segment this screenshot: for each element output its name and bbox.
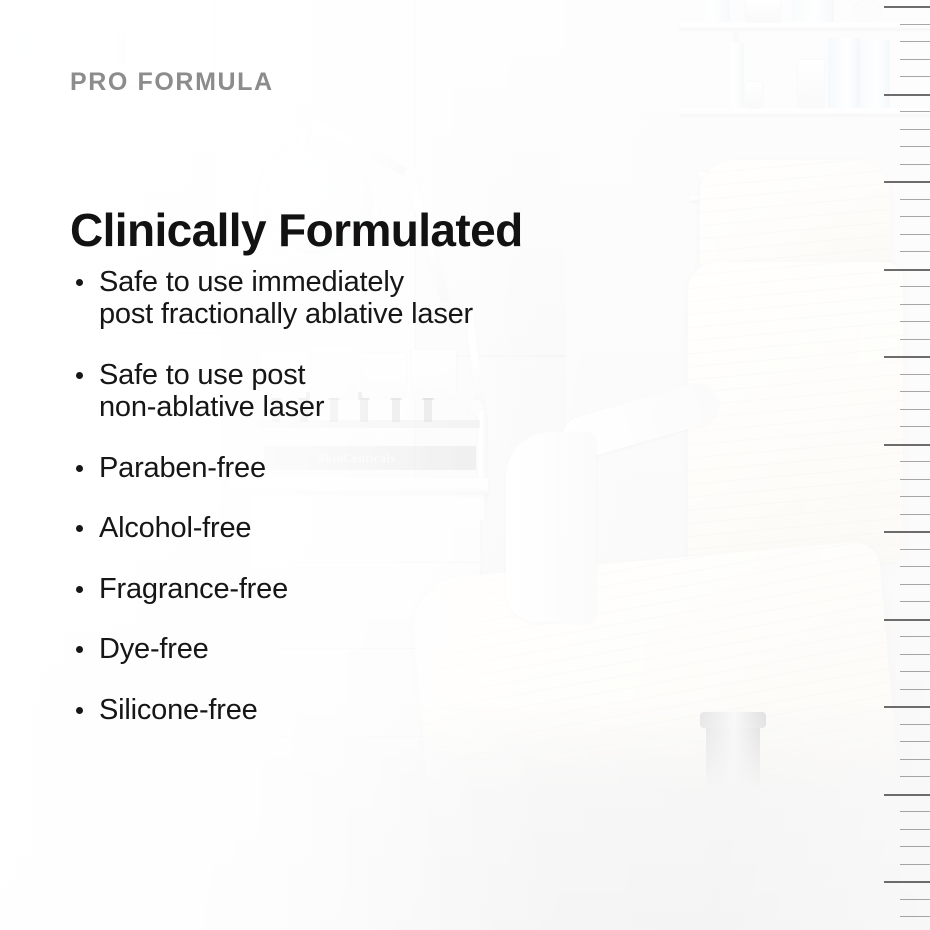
- chair-backrest-ribs: [688, 262, 903, 562]
- product-jar-r3: [798, 60, 824, 108]
- bottle-label: [67, 19, 76, 62]
- dropper-bottle-right: [728, 42, 744, 108]
- bullet-dot-icon: [76, 646, 83, 653]
- page-title: Clinically Formulated: [70, 203, 523, 257]
- chair-headrest-ribs: [700, 160, 890, 278]
- list-item-text: Safe to use immediately: [99, 266, 542, 298]
- bullet-dot-icon: [76, 525, 83, 532]
- list-item-text: post fractionally ablative laser: [99, 298, 542, 330]
- list-item: Dye-free: [72, 633, 542, 665]
- promo-card: SkinCeuticals: [0, 0, 930, 930]
- shelf-ornament-circle: [854, 0, 880, 22]
- product-bottle-r1: [700, 0, 730, 22]
- bullet-dot-icon: [76, 586, 83, 593]
- bullet-dot-icon: [76, 372, 83, 379]
- product-bottle-1: [8, 10, 44, 80]
- product-box-r2: [828, 38, 860, 108]
- shelf-upper-right-bottom: [680, 108, 930, 116]
- product-jar-left-1: [6, 322, 46, 354]
- list-item: Safe to use postnon-ablative laser: [72, 359, 542, 424]
- bottle-label: [117, 29, 126, 65]
- list-item-text: Silicone-free: [99, 694, 542, 726]
- list-item-text: Paraben-free: [99, 452, 542, 484]
- dropper-cap: [733, 31, 739, 43]
- bullet-dot-icon: [76, 465, 83, 472]
- product-jar-r1: [746, 0, 780, 22]
- list-item-text: Safe to use post: [99, 359, 542, 391]
- bottle-label: [17, 25, 26, 64]
- bottle-cap: [116, 7, 134, 15]
- bottle-cap: [67, 0, 86, 3]
- product-jar-r2: [746, 82, 762, 108]
- list-item: Paraben-free: [72, 452, 542, 484]
- shelf-upper-right-top: [680, 22, 930, 30]
- eyebrow-label: PRO FORMULA: [70, 68, 274, 97]
- lamp-joint-top: [296, 106, 312, 122]
- product-box-r3: [860, 40, 890, 108]
- list-item-text: Dye-free: [99, 633, 542, 665]
- bottle-cap: [17, 3, 36, 11]
- bullet-dot-icon: [76, 707, 83, 714]
- list-item-text: Alcohol-free: [99, 512, 542, 544]
- list-item: Silicone-free: [72, 694, 542, 726]
- list-item-text: Fragrance-free: [99, 573, 542, 605]
- chair-backrest: [688, 262, 903, 562]
- bullet-dot-icon: [76, 279, 83, 286]
- product-box-r1: [792, 0, 834, 22]
- list-item: Alcohol-free: [72, 512, 542, 544]
- list-item-text: non-ablative laser: [99, 391, 542, 423]
- lamp-joint-mid: [404, 166, 421, 183]
- list-item: Safe to use immediatelypost fractionally…: [72, 266, 542, 331]
- benefits-list: Safe to use immediatelypost fractionally…: [72, 266, 542, 754]
- chair-headrest: [700, 160, 890, 278]
- list-item: Fragrance-free: [72, 573, 542, 605]
